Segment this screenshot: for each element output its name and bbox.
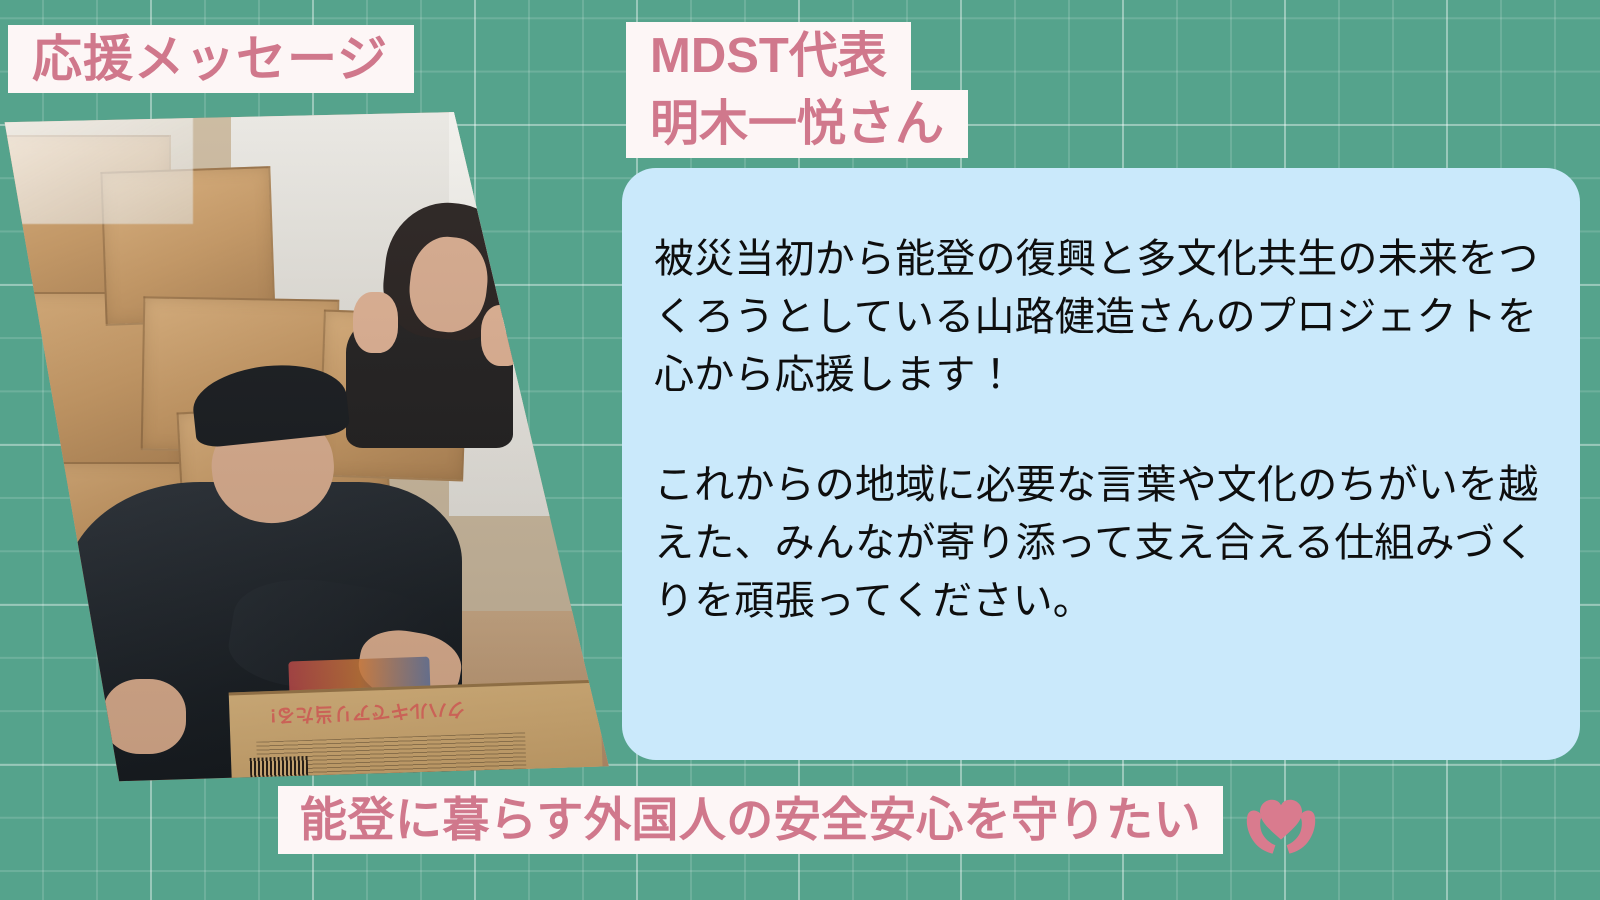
campaign-banner-label: 能登に暮らす外国人の安全安心を守りたい [278,786,1223,854]
speaker-name-label: 明木一悦さん [626,90,968,158]
speaker-role-label: MDST代表 [626,22,911,90]
heart-in-hands-icon [1239,785,1323,855]
page-title-badge: 応援メッセージ [8,25,414,93]
volunteer-photo: クハルキでアリ当たる! [0,108,628,788]
message-paragraph-1: 被災当初から能登の復興と多文化共生の未来をつくろうとしている山路健造さんのプロジ… [654,230,1546,404]
message-paragraph-2: これからの地域に必要な言葉や文化のちがいを越えた、みんなが寄り添って支え合える仕… [654,456,1546,630]
photo-content: クハルキでアリ当たる! [0,108,628,788]
photo-shading [0,108,628,788]
campaign-banner: 能登に暮らす外国人の安全安心を守りたい [278,787,1323,853]
slide-canvas: クハルキでアリ当たる! 応援メッセージ MDST代表 明木一悦さん 被災当初から… [0,0,1600,900]
speaker-badge: MDST代表 明木一悦さん [626,22,968,158]
page-title-label: 応援メッセージ [32,34,388,84]
message-card: 被災当初から能登の復興と多文化共生の未来をつくろうとしている山路健造さんのプロジ… [622,168,1580,760]
